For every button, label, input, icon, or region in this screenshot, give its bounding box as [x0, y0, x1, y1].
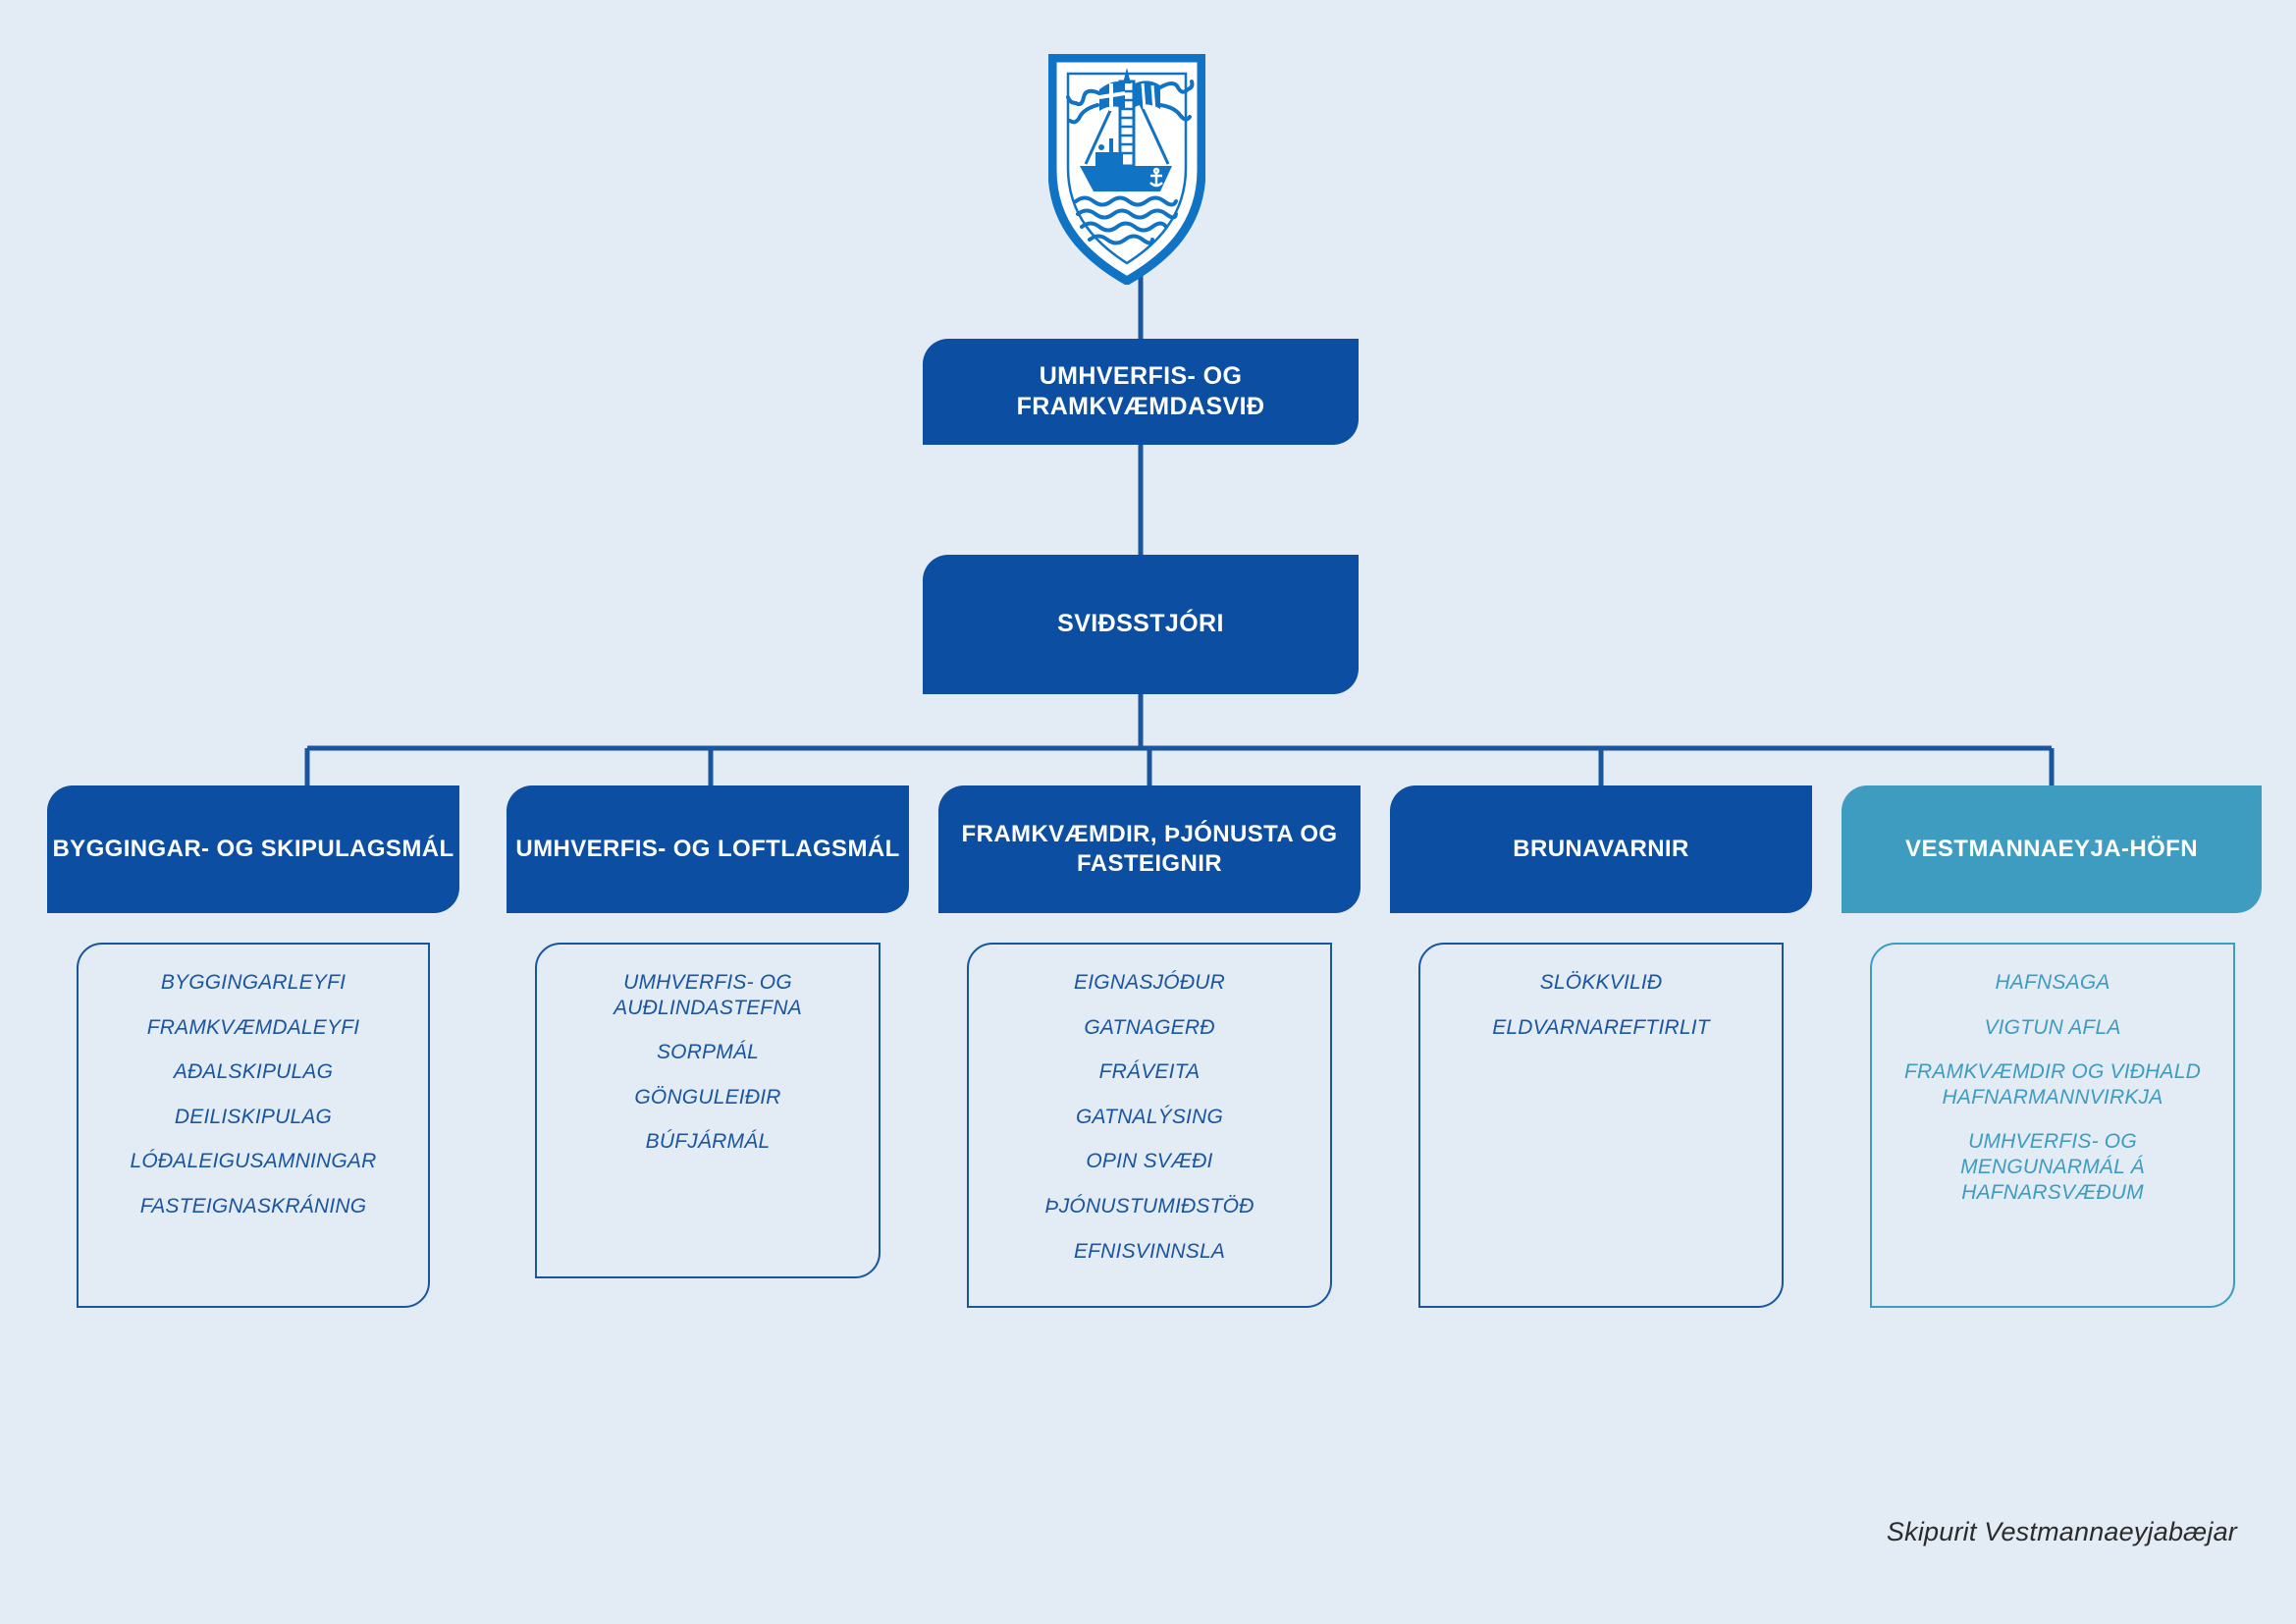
- sublist-item: SORPMÁL: [657, 1040, 759, 1065]
- sublist-item: ÞJÓNUSTUMIÐSTÖÐ: [1045, 1194, 1255, 1219]
- sublist-item: LÓÐALEIGUSAMNINGAR: [131, 1149, 377, 1174]
- dept-brunavarnir[interactable]: BRUNAVARNIR: [1390, 785, 1812, 913]
- sublist-item: AÐALSKIPULAG: [174, 1059, 333, 1085]
- sublist-item: BYGGINGARLEYFI: [161, 970, 346, 996]
- dept-umhverfis-og-loftlagsmal[interactable]: UMHVERFIS- OG LOFTLAGSMÁL: [507, 785, 909, 913]
- sublist-item: DEILISKIPULAG: [175, 1105, 332, 1130]
- sublist-item: FRAMKVÆMDALEYFI: [147, 1015, 360, 1041]
- sublist-brunavarnir: SLÖKKVILIÐELDVARNAREFTIRLIT: [1418, 943, 1784, 1308]
- dept-vestmannaeyjahofn[interactable]: VESTMANNAEYJA-HÖFN: [1842, 785, 2262, 913]
- sublist-item: EIGNASJÓÐUR: [1074, 970, 1225, 996]
- sublist-item: BÚFJÁRMÁL: [646, 1129, 771, 1155]
- sublist-framkvaemdir-thjonusta-og-fasteignir: EIGNASJÓÐURGATNAGERÐFRÁVEITAGATNALÝSINGO…: [967, 943, 1332, 1308]
- coat-of-arms-logo: [1048, 54, 1205, 285]
- sublist-item: VIGTUN AFLA: [1984, 1015, 2120, 1041]
- sublist-item: EFNISVINNSLA: [1074, 1239, 1225, 1265]
- footer-caption: Skipurit Vestmannaeyjabæjar: [1887, 1517, 2237, 1547]
- sublist-item: UMHVERFIS- OG MENGUNARMÁL Á HAFNARSVÆÐUM: [1960, 1129, 2145, 1205]
- sublist-vestmannaeyjahofn: HAFNSAGAVIGTUN AFLAFRAMKVÆMDIR OG VIÐHAL…: [1870, 943, 2235, 1308]
- sublist-item: UMHVERFIS- OG AUÐLINDASTEFNA: [614, 970, 802, 1020]
- sublist-item: HAFNSAGA: [1995, 970, 2109, 996]
- node-division[interactable]: UMHVERFIS- OG FRAMKVÆMDASVIÐ: [923, 339, 1359, 445]
- dept-byggingar-og-skipulagsmal[interactable]: BYGGINGAR- OG SKIPULAGSMÁL: [47, 785, 459, 913]
- dept-framkvaemdir-thjonusta-og-fasteignir[interactable]: FRAMKVÆMDIR, ÞJÓNUSTA OG FASTEIGNIR: [938, 785, 1361, 913]
- org-chart: UMHVERFIS- OG FRAMKVÆMDASVIÐ SVIÐSSTJÓRI…: [0, 0, 2296, 1624]
- sublist-umhverfis-og-loftlagsmal: UMHVERFIS- OG AUÐLINDASTEFNASORPMÁLGÖNGU…: [535, 943, 881, 1278]
- sublist-item: OPIN SVÆÐI: [1086, 1149, 1212, 1174]
- sublist-item: FASTEIGNASKRÁNING: [140, 1194, 367, 1219]
- sublist-item: FRAMKVÆMDIR OG VIÐHALD HAFNARMANNVIRKJA: [1904, 1059, 2201, 1110]
- sublist-byggingar-og-skipulagsmal: BYGGINGARLEYFIFRAMKVÆMDALEYFIAÐALSKIPULA…: [77, 943, 430, 1308]
- node-manager[interactable]: SVIÐSSTJÓRI: [923, 555, 1359, 694]
- sublist-item: GÖNGULEIÐIR: [634, 1085, 780, 1110]
- sublist-item: GATNAGERÐ: [1084, 1015, 1214, 1041]
- sublist-item: FRÁVEITA: [1099, 1059, 1201, 1085]
- sublist-item: SLÖKKVILIÐ: [1540, 970, 1663, 996]
- sublist-item: GATNALÝSING: [1076, 1105, 1223, 1130]
- sublist-item: ELDVARNAREFTIRLIT: [1492, 1015, 1710, 1041]
